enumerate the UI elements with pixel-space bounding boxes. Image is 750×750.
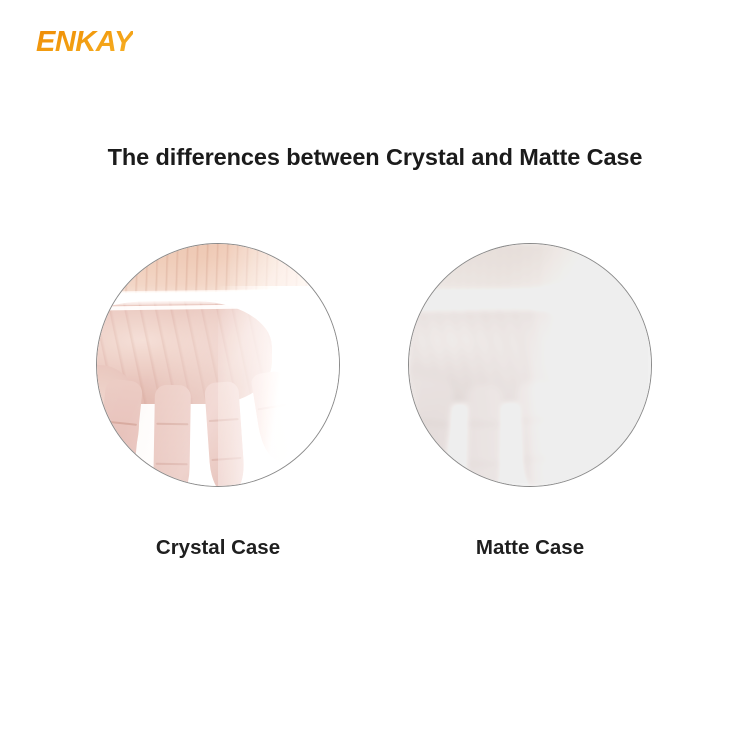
matte-frost-overlay	[409, 244, 651, 486]
case-sheen	[96, 243, 340, 487]
comparison-item-matte	[408, 243, 652, 487]
brand-logo: ENKAY	[36, 28, 133, 57]
comparison-item-crystal	[96, 243, 340, 487]
caption-crystal-case: Crystal Case	[96, 536, 340, 560]
crystal-case-image-stage	[96, 243, 340, 487]
caption-matte-case: Matte Case	[408, 536, 652, 560]
comparison-row	[0, 243, 750, 493]
page-title: The differences between Crystal and Matt…	[0, 144, 750, 171]
crystal-case-photo	[96, 243, 340, 487]
matte-case-photo	[408, 243, 652, 487]
